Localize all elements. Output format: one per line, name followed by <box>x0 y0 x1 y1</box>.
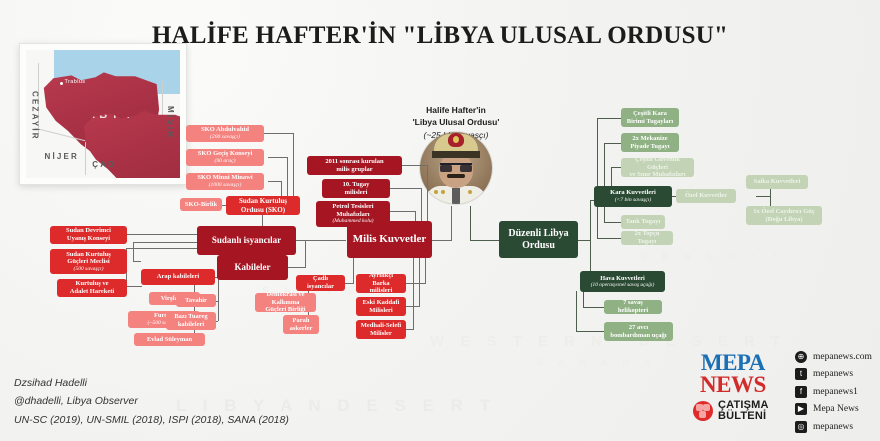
logo-line-news: NEWS <box>700 374 766 396</box>
sublabel: kabileleri <box>178 321 204 328</box>
box-kurtulus-ve-adalet-hareketi[interactable]: Kurtuluş ve Adalet Hareketi <box>57 279 127 297</box>
box-ozel-caydirici-guc[interactable]: 1x Özel Caydırıcı Güç (Doğu Libya) <box>746 206 822 225</box>
social-handle: mepanews <box>813 369 853 379</box>
box-petrol-tesisleri-muhafizlari[interactable]: Petrol Tesisleri Muhafızları (Muhammed k… <box>316 201 390 227</box>
box-evlad-suleyman[interactable]: Evlad Süleyman <box>134 333 205 346</box>
libya-map-card: Trablus LİBYA CEZAYİR MISIR NİJER ÇAD <box>19 43 187 185</box>
box-10-tugay-milisleri[interactable]: 10. Tugay milisleri <box>322 179 390 198</box>
label: SKO Geçiş Konseyi <box>198 150 253 157</box>
box-sko-minni-minawi[interactable]: SKO Minni Minawi (1000 savaşçı) <box>186 173 264 190</box>
box-7-savas-helikopteri[interactable]: 7 savaş helikopteri <box>604 300 662 314</box>
label: Ayrılıkçı Barka <box>369 272 393 287</box>
sublabel: Güçleri Meclisi <box>67 258 109 265</box>
instagram-icon: ◎ <box>795 421 807 433</box>
box-cesitli-guvenlik-gucleri[interactable]: Çeşitli Güvenlik Güçleri ve Sınır Muhafı… <box>621 158 694 177</box>
caption-line-1: Halife Hafter'in <box>426 105 486 115</box>
logo-line-mepa: MEPA <box>700 352 766 374</box>
box-sudan-kurtulus-gucleri-meclisi[interactable]: Sudan Kurtuluş Güçleri Meclisi (500 sava… <box>50 249 127 274</box>
label: SKO Abdulvahid <box>201 126 249 133</box>
label: Paralı <box>293 317 310 324</box>
map-label-chad: ÇAD <box>92 160 116 169</box>
box-demokrasi-ve-kalkinma-gucleri-birligi[interactable]: Demokrasi ve Kalkınma Güçleri Birliği <box>255 293 316 312</box>
box-sudan-kurtulus-ordusu[interactable]: Sudan Kurtuluş Ordusu (SKO) <box>226 196 300 215</box>
box-cadli-isyancilar[interactable]: Çadlı isyancılar <box>296 275 345 291</box>
label: Kurtuluş ve <box>75 280 108 287</box>
box-medhali-selefi-milisler[interactable]: Medhali-Selefi Milisler <box>356 320 406 339</box>
sublabel: (<7 bin savaşçı) <box>610 197 656 204</box>
box-sudanli-isyancilar[interactable]: Sudanlı isyancılar <box>197 226 296 255</box>
caption-line-2: 'Libya Ulusal Ordusu' <box>413 117 500 127</box>
label: Bazı Tuareg <box>174 313 207 320</box>
catisma-bulteni-logo: ÇATIŞMA BÜLTENİ <box>693 400 769 422</box>
box-2011-sonrasi-milis-gruplar[interactable]: 2011 sonrası kurulan milis gruplar <box>307 156 402 175</box>
label: 2011 sonrası kurulan <box>325 158 383 165</box>
label: 2x Mekanize <box>632 135 667 142</box>
social-handle: mepanews1 <box>813 387 858 397</box>
box-sko-birlik[interactable]: SKO-Birlik <box>180 198 222 211</box>
sublabel: Adalet Hareketi <box>70 288 114 295</box>
social-row-youtube[interactable]: ▶ Mepa News <box>795 401 872 419</box>
box-tavahir[interactable]: Tavahir <box>176 294 216 307</box>
social-row-website[interactable]: ⊕ mepanews.com <box>795 348 872 366</box>
credit-handle: @dhadelli, Libya Observer <box>14 392 289 410</box>
label: SKO Minni Minawi <box>197 174 252 181</box>
box-27-avci-bombardiman-ucagi[interactable]: 27 avcı bombardıman uçağı <box>604 322 673 341</box>
sublabel: Milisler <box>370 330 392 337</box>
social-links: ⊕ mepanews.com t mepanews f mepanews1 ▶ … <box>795 348 872 436</box>
sublabel: milisleri <box>370 287 393 294</box>
social-row-instagram[interactable]: ◎ mepanews <box>795 418 872 436</box>
sublabel: Milisleri <box>369 307 392 314</box>
credit-author: Dzsihad Hadelli <box>14 374 289 392</box>
box-sudan-devrimci-uyanis-konseyi[interactable]: Sudan Devrimci Uyanış Konseyi <box>50 226 127 244</box>
globe-icon: ⊕ <box>795 351 807 363</box>
sublabel: bombardıman uçağı <box>610 332 666 339</box>
box-tank-tugayi[interactable]: Tank Tugayı <box>621 215 665 229</box>
label: Kabileler <box>235 262 271 273</box>
sublabel: askerler <box>290 325 313 332</box>
box-2x-mekanize-piyade-tugayi[interactable]: 2x Mekanize Piyade Tugayı <box>621 133 679 152</box>
map-label-egypt: MISIR <box>166 106 175 139</box>
label: Sudan Kurtuluş Ordusu (SKO) <box>230 197 296 214</box>
credits-block: Dzsihad Hadelli @dhadelli, Libya Observe… <box>14 374 289 429</box>
mepa-news-logo: MEPA NEWS <box>700 352 766 396</box>
bulletin-line-2: BÜLTENİ <box>718 411 769 422</box>
sublabel: (90 araç) <box>198 158 253 165</box>
label: Düzenli Libya Ordusu <box>503 228 574 252</box>
sublabel: (Doğu Libya) <box>765 216 802 223</box>
social-handle: mepanews.com <box>813 352 872 362</box>
social-handle: Mepa News <box>813 404 859 414</box>
capital-dot <box>60 82 63 85</box>
bulletin-mark-icon <box>693 401 713 421</box>
infographic-root: L I B Y A N D E S E R T W E S T E R N D … <box>0 0 880 441</box>
sublabel: Piyade Tugayı <box>630 143 669 150</box>
social-handle: mepanews <box>813 422 853 432</box>
label: Sudanlı isyancılar <box>212 235 281 246</box>
bulletin-text: ÇATIŞMA BÜLTENİ <box>718 400 769 422</box>
sublabel: milis gruplar <box>336 166 372 173</box>
hafter-portrait <box>420 132 492 204</box>
social-row-twitter[interactable]: t mepanews <box>795 366 872 384</box>
label: Medhali-Selefi <box>361 322 401 329</box>
label: Petrol Tesisleri <box>332 203 373 210</box>
box-cesitli-kara-birimi-tugaylari[interactable]: Çeşitli Kara Birimi Tugayları <box>621 108 679 127</box>
sublabel: Uyanış Konseyi <box>67 235 110 242</box>
label: Çeşitli Güvenlik Güçleri <box>635 156 680 171</box>
sublabel2: (500 savaşçı) <box>66 266 111 273</box>
box-2x-topcu-tugayi[interactable]: 2x Topçu Tugayı <box>621 231 673 245</box>
twitter-icon: t <box>795 368 807 380</box>
label: Eski Kaddafi <box>363 299 400 306</box>
box-bazi-tuareg-kabileleri[interactable]: Bazı Tuareg kabileleri <box>166 312 216 330</box>
box-sko-abdulvahid[interactable]: SKO Abdulvahid (200 savaşçı) <box>186 125 264 142</box>
label: Sudan Devrimci <box>66 227 111 234</box>
sublabel: Birimi Tugayları <box>627 118 673 125</box>
map-label-niger: NİJER <box>44 152 79 161</box>
box-parali-askerler[interactable]: Paralı askerler <box>283 315 319 334</box>
box-saika-kuvvetleri[interactable]: Saika Kuvvetleri <box>746 175 808 189</box>
sublabel: Güçleri Birliği <box>265 306 305 313</box>
credit-sources: UN-SC (2019), UN-SMIL (2018), ISPI (2018… <box>14 411 289 429</box>
label: Kara Kuvvetleri <box>610 189 656 196</box>
label: 10. Tugay <box>343 181 370 188</box>
label: Sudan Kurtuluş <box>66 251 111 258</box>
box-ozel-kuvvetler[interactable]: Özel Kuvvetler <box>676 189 736 203</box>
label: Milis Kuvvetler <box>353 233 427 246</box>
box-kara-kuvvetleri[interactable]: Kara Kuvvetleri (<7 bin savaşçı) <box>594 186 672 207</box>
label: Demokrasi ve Kalkınma <box>266 291 304 306</box>
map-canvas: Trablus LİBYA CEZAYİR MISIR NİJER ÇAD <box>26 50 180 178</box>
label: Hava Kuvvetleri <box>600 275 645 282</box>
box-arap-kabileleri[interactable]: Arap kabileleri <box>141 269 215 285</box>
label: 27 avcı <box>629 324 648 331</box>
facebook-icon: f <box>795 386 807 398</box>
social-row-facebook[interactable]: f mepanews1 <box>795 383 872 401</box>
map-label-algeria: CEZAYİR <box>31 91 40 141</box>
youtube-icon: ▶ <box>795 403 807 415</box>
sublabel: (1000 savaşçı) <box>197 182 252 189</box>
box-kabileler[interactable]: Kabileler <box>217 255 288 280</box>
sublabel2: (Muhammed kolu) <box>332 218 373 225</box>
label: 1x Özel Caydırıcı Güç <box>753 208 815 215</box>
box-eski-kaddafi-milisleri[interactable]: Eski Kaddafi Milisleri <box>356 297 406 316</box>
box-duzenli-libya-ordusu[interactable]: Düzenli Libya Ordusu <box>499 221 578 258</box>
map-capital-label: Trablus <box>65 79 86 85</box>
sublabel: Muhafızları <box>336 211 369 218</box>
box-sko-gecis-konseyi[interactable]: SKO Geçiş Konseyi (90 araç) <box>186 149 264 166</box>
sublabel: (200 savaşçı) <box>201 134 249 141</box>
sublabel: (10 operasyonel savaş uçağı) <box>591 282 655 288</box>
box-hava-kuvvetleri[interactable]: Hava Kuvvetleri (10 operasyonel savaş uç… <box>580 271 665 292</box>
sublabel: milisleri <box>345 189 368 196</box>
box-ayrilikci-barka-milisleri[interactable]: Ayrılıkçı Barka milisleri <box>356 274 406 293</box>
sublabel: ve Sınır Muhafızları <box>629 171 685 178</box>
label: Çeşitli Kara <box>633 110 667 117</box>
